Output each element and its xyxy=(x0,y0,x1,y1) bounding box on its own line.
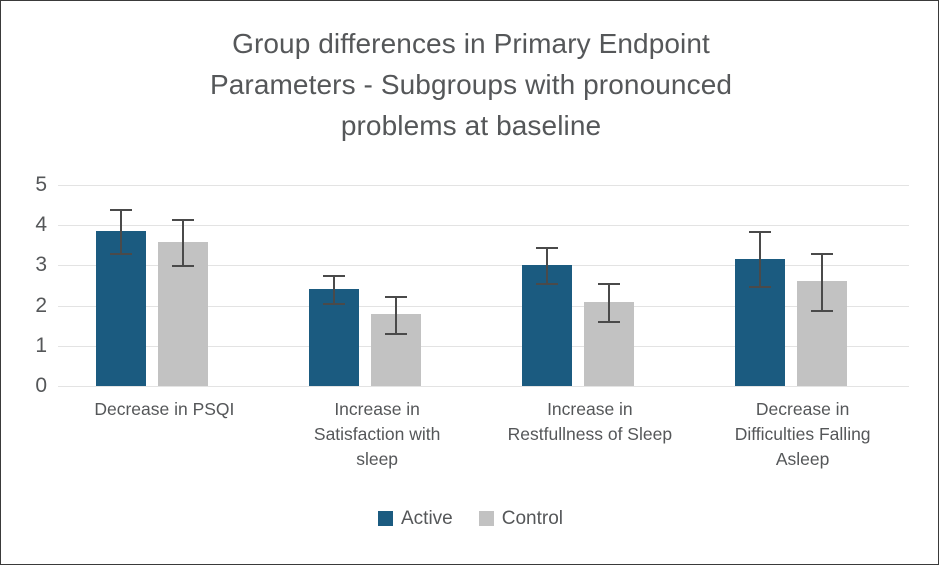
x-category-label-line: Difficulties Falling xyxy=(696,422,909,447)
error-bar-cap-top xyxy=(598,283,620,285)
plot-area xyxy=(58,185,909,386)
gridline xyxy=(58,386,909,387)
error-bar-cap-top xyxy=(536,247,558,249)
chart-container: Group differences in Primary Endpoint Pa… xyxy=(0,0,939,565)
x-category-label: Decrease in PSQI xyxy=(58,397,271,422)
error-bar-cap-bottom xyxy=(385,333,407,335)
y-tick-label: 1 xyxy=(1,335,47,356)
x-category-label-line: Increase in xyxy=(484,397,697,422)
chart-title-line-1: Group differences in Primary Endpoint xyxy=(121,23,821,64)
gridline xyxy=(58,225,909,226)
error-bar-cap-bottom xyxy=(811,310,833,312)
x-category-label-line: Satisfaction with xyxy=(271,422,484,447)
error-bar-line xyxy=(759,231,761,286)
error-bar-cap-bottom xyxy=(598,321,620,323)
chart-legend: ActiveControl xyxy=(1,509,939,528)
y-tick-label: 3 xyxy=(1,254,47,275)
error-bar-cap-bottom xyxy=(749,286,771,288)
error-bar-line xyxy=(120,209,122,253)
chart-title-line-3: problems at baseline xyxy=(121,105,821,146)
error-bar-line xyxy=(608,283,610,321)
error-bar-cap-top xyxy=(323,275,345,277)
y-tick-label: 5 xyxy=(1,174,47,195)
error-bar-cap-top xyxy=(110,209,132,211)
y-tick-label: 2 xyxy=(1,295,47,316)
error-bar-line xyxy=(333,275,335,303)
error-bar-cap-bottom xyxy=(536,283,558,285)
error-bar-cap-top xyxy=(385,296,407,298)
x-category-label-line: sleep xyxy=(271,447,484,472)
error-bar-cap-top xyxy=(811,253,833,255)
legend-label: Control xyxy=(502,509,563,528)
legend-swatch-icon xyxy=(378,511,393,526)
x-category-label: Increase inSatisfaction withsleep xyxy=(271,397,484,472)
x-category-label-line: Decrease in PSQI xyxy=(58,397,271,422)
chart-title-line-2: Parameters - Subgroups with pronounced xyxy=(121,64,821,105)
error-bar-line xyxy=(182,219,184,265)
legend-item[interactable]: Control xyxy=(479,509,563,528)
x-category-label: Decrease inDifficulties FallingAsleep xyxy=(696,397,909,472)
error-bar-cap-bottom xyxy=(172,265,194,267)
legend-item[interactable]: Active xyxy=(378,509,453,528)
chart-title: Group differences in Primary Endpoint Pa… xyxy=(121,23,821,146)
error-bar-line xyxy=(395,296,397,332)
error-bar-cap-bottom xyxy=(323,303,345,305)
x-category-label-line: Restfullness of Sleep xyxy=(484,422,697,447)
error-bar-cap-top xyxy=(749,231,771,233)
y-tick-label: 4 xyxy=(1,214,47,235)
x-category-label-line: Increase in xyxy=(271,397,484,422)
error-bar-cap-top xyxy=(172,219,194,221)
legend-label: Active xyxy=(401,509,453,528)
error-bar-line xyxy=(821,253,823,309)
legend-swatch-icon xyxy=(479,511,494,526)
error-bar-cap-bottom xyxy=(110,253,132,255)
error-bar-line xyxy=(546,247,548,283)
gridline xyxy=(58,185,909,186)
y-tick-label: 0 xyxy=(1,375,47,396)
x-category-label-line: Asleep xyxy=(696,447,909,472)
x-category-label: Increase inRestfullness of Sleep xyxy=(484,397,697,447)
x-category-label-line: Decrease in xyxy=(696,397,909,422)
x-axis: Decrease in PSQIIncrease inSatisfaction … xyxy=(58,397,909,489)
y-axis: 543210 xyxy=(1,185,47,386)
